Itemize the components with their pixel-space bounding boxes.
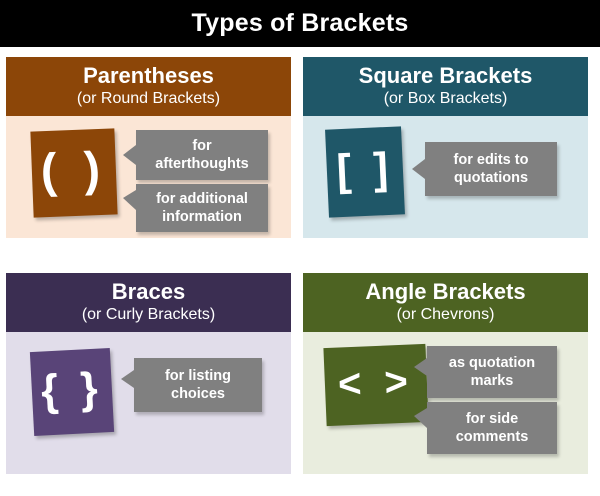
angle-brackets-glyph: < > bbox=[323, 344, 428, 426]
callout-angle-brackets-2-text: for side comments bbox=[435, 410, 549, 446]
round-brackets-glyph-text: ( ) bbox=[40, 146, 108, 197]
panel-parentheses: Parentheses (or Round Brackets) ( ) for … bbox=[6, 57, 291, 252]
callout-braces-1: for listing choices bbox=[134, 358, 262, 412]
panel-braces-header: Braces (or Curly Brackets) bbox=[6, 273, 291, 332]
curly-brackets-glyph: { } bbox=[30, 348, 114, 436]
square-brackets-glyph: [ ] bbox=[325, 127, 405, 218]
panel-angle-brackets: Angle Brackets (or Chevrons) < > as quot… bbox=[303, 273, 588, 488]
page-title: Types of Brackets bbox=[192, 9, 409, 38]
page-title-bar: Types of Brackets bbox=[0, 0, 600, 47]
panel-braces-heading: Braces bbox=[6, 279, 291, 304]
angle-brackets-glyph-text: < > bbox=[337, 362, 414, 405]
panel-parentheses-body: ( ) for afterthoughts for additional inf… bbox=[6, 116, 291, 238]
callout-angle-brackets-2: for side comments bbox=[427, 402, 557, 454]
panel-parentheses-heading: Parentheses bbox=[6, 63, 291, 88]
callout-parentheses-2: for additional information bbox=[136, 184, 268, 232]
panel-square-brackets-header: Square Brackets (or Box Brackets) bbox=[303, 57, 588, 116]
curly-brackets-glyph-text: { } bbox=[40, 367, 104, 414]
panel-square-brackets-body: [ ] for edits to quotations bbox=[303, 116, 588, 238]
panel-square-brackets-heading: Square Brackets bbox=[303, 63, 588, 88]
panel-square-brackets-subheading: (or Box Brackets) bbox=[303, 89, 588, 108]
panel-braces-subheading: (or Curly Brackets) bbox=[6, 305, 291, 324]
square-brackets-glyph-text: [ ] bbox=[336, 147, 394, 194]
callout-angle-brackets-1-text: as quotation marks bbox=[435, 354, 549, 390]
callout-square-brackets-1-text: for edits to quotations bbox=[433, 151, 549, 187]
panel-square-brackets: Square Brackets (or Box Brackets) [ ] fo… bbox=[303, 57, 588, 252]
callout-braces-1-text: for listing choices bbox=[142, 367, 254, 403]
callout-angle-brackets-1: as quotation marks bbox=[427, 346, 557, 398]
panel-angle-brackets-header: Angle Brackets (or Chevrons) bbox=[303, 273, 588, 332]
panel-parentheses-subheading: (or Round Brackets) bbox=[6, 89, 291, 108]
panel-angle-brackets-heading: Angle Brackets bbox=[303, 279, 588, 304]
callout-square-brackets-1: for edits to quotations bbox=[425, 142, 557, 196]
panel-braces-body: { } for listing choices bbox=[6, 332, 291, 474]
panel-parentheses-header: Parentheses (or Round Brackets) bbox=[6, 57, 291, 116]
callout-parentheses-1: for afterthoughts bbox=[136, 130, 268, 180]
panel-braces: Braces (or Curly Brackets) { } for listi… bbox=[6, 273, 291, 488]
callout-parentheses-1-text: for afterthoughts bbox=[144, 137, 260, 173]
round-brackets-glyph: ( ) bbox=[30, 129, 117, 218]
panel-angle-brackets-subheading: (or Chevrons) bbox=[303, 305, 588, 324]
callout-parentheses-2-text: for additional information bbox=[144, 190, 260, 226]
panel-angle-brackets-body: < > as quotation marks for side comments bbox=[303, 332, 588, 474]
